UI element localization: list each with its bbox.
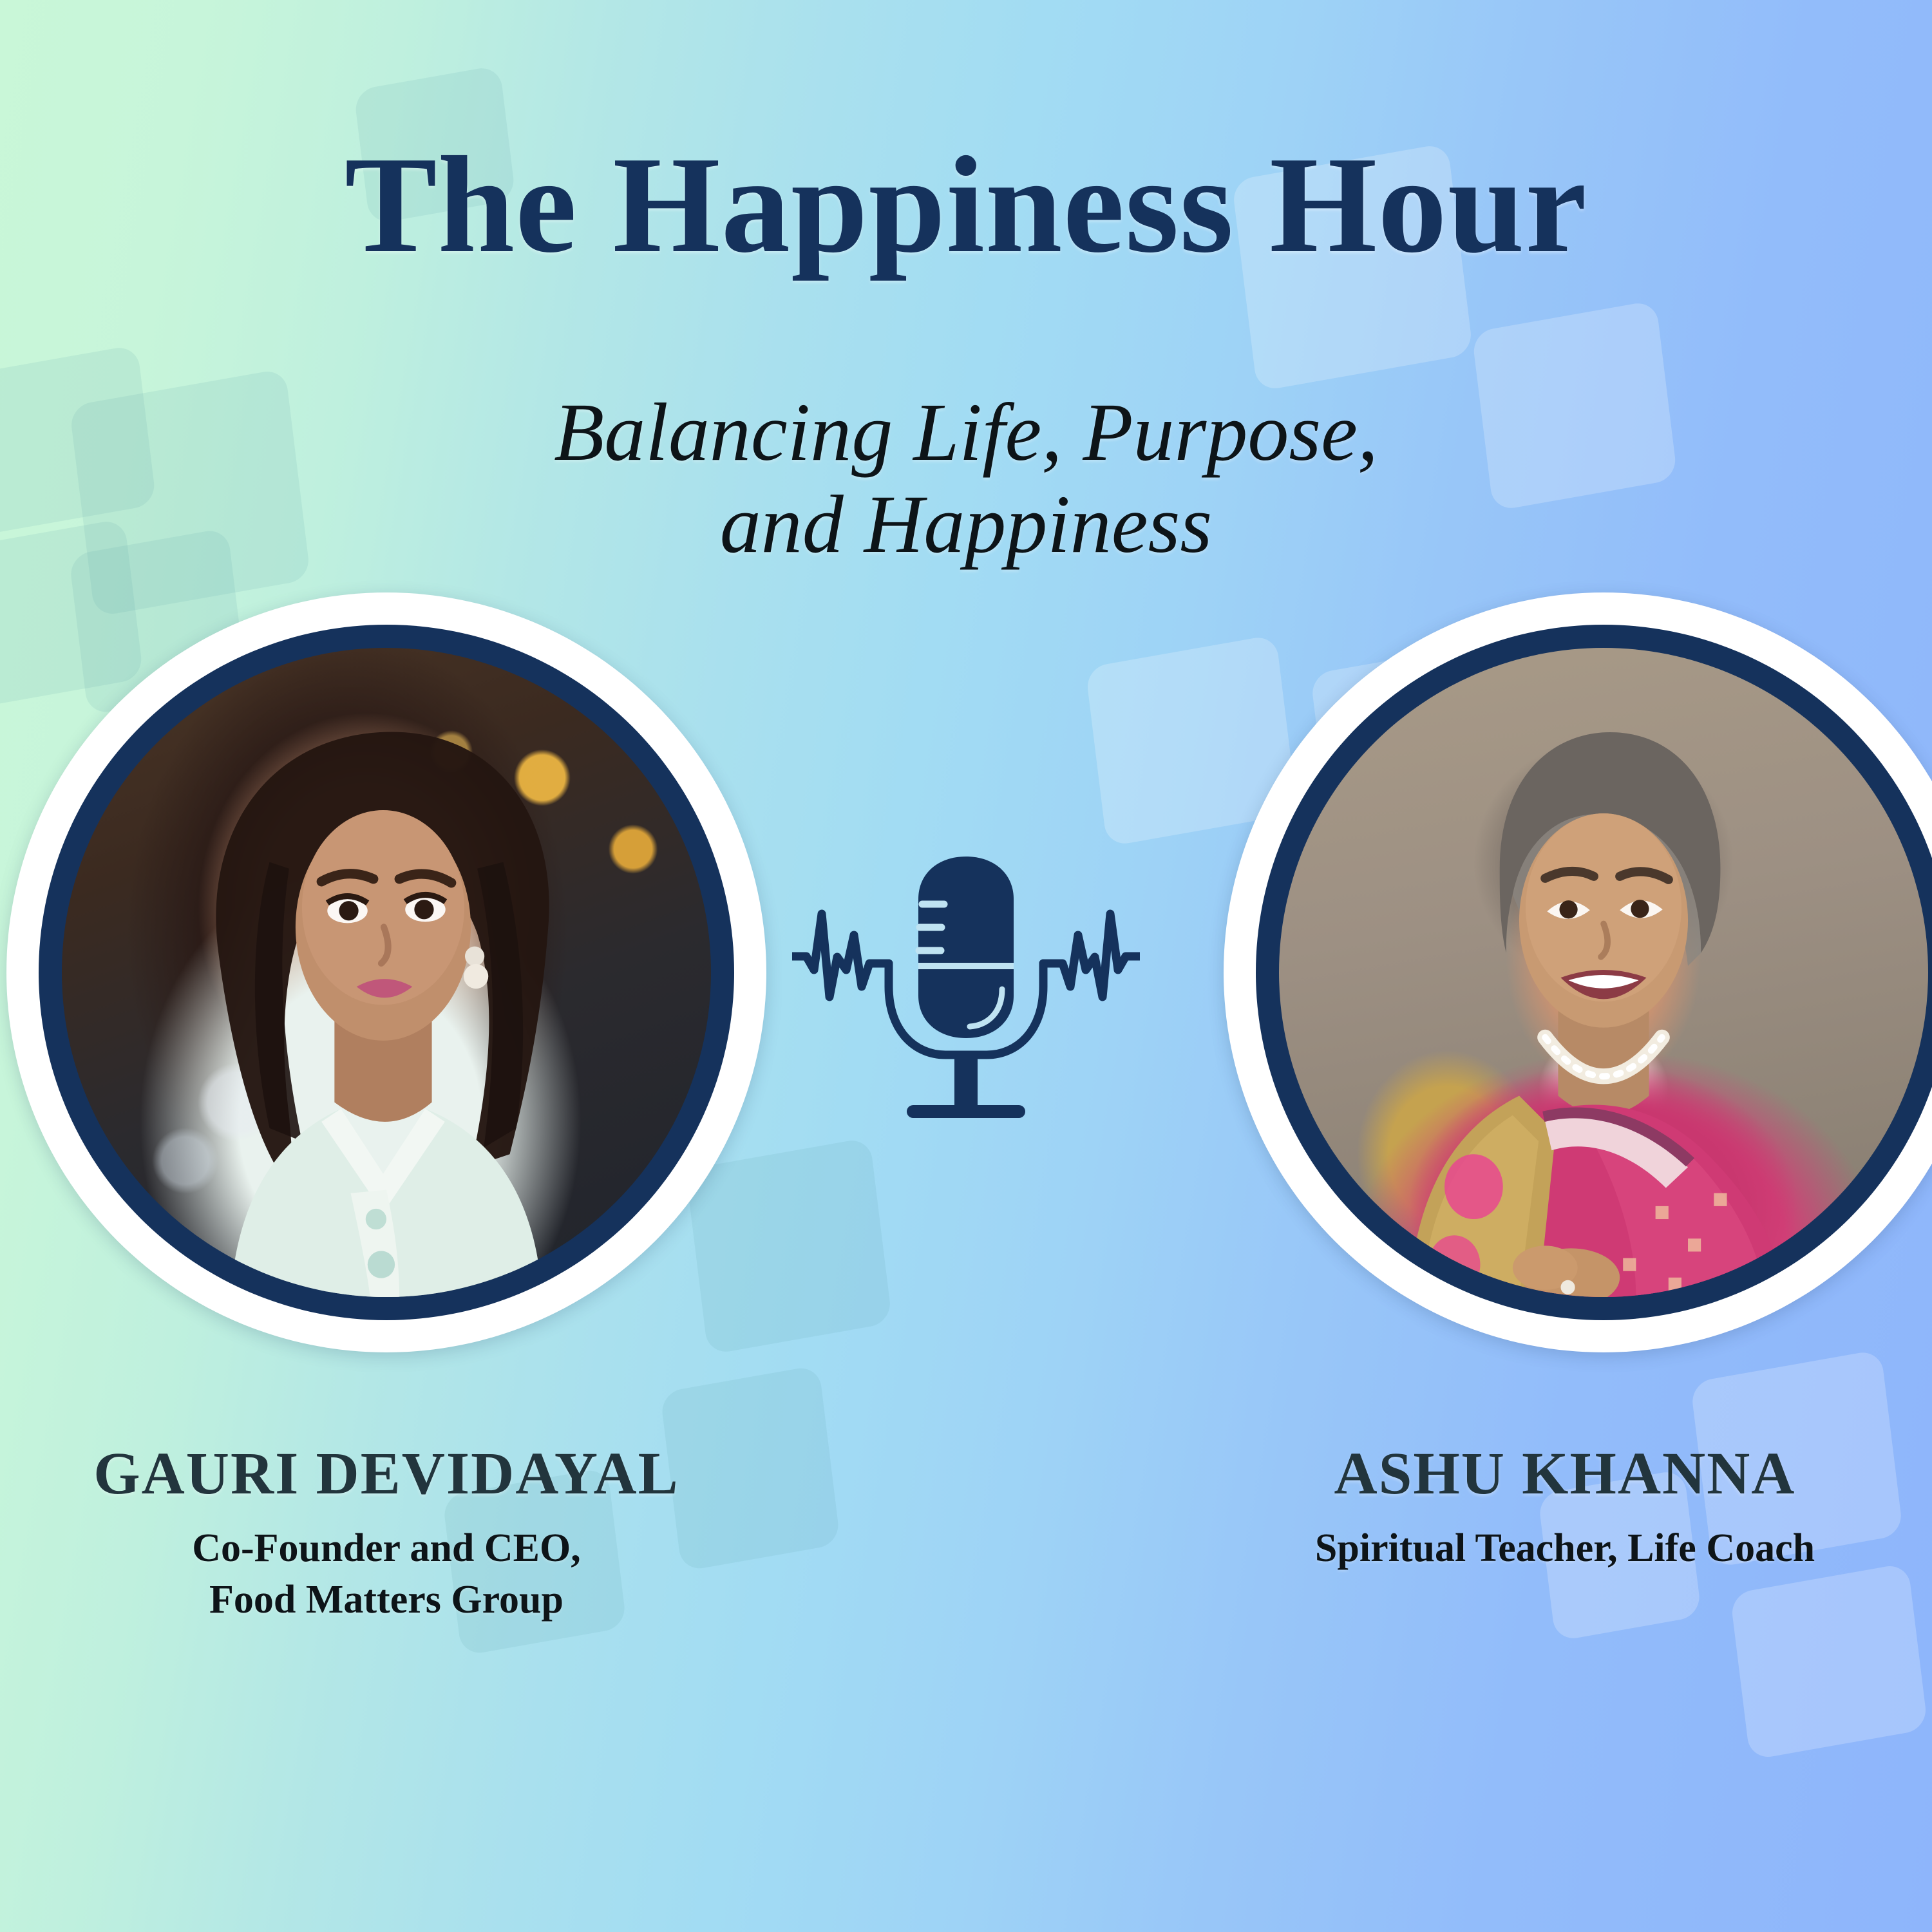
page-title: The Happiness Hour bbox=[0, 135, 1932, 274]
speaker-role: Spiritual Teacher, Life Coach bbox=[1224, 1522, 1906, 1575]
speaker-name: ASHU KHANNA bbox=[1224, 1443, 1906, 1506]
subtitle-line-2: and Happiness bbox=[0, 478, 1932, 571]
background-shape bbox=[1730, 1563, 1928, 1761]
avatar-gauri-devidayal bbox=[6, 592, 766, 1352]
page-subtitle: Balancing Life, Purpose, and Happiness bbox=[0, 386, 1932, 571]
portrait-photo-gauri bbox=[62, 648, 711, 1297]
speaker-role-line-2: Food Matters Group bbox=[26, 1574, 747, 1626]
avatar-ashu-khanna bbox=[1224, 592, 1932, 1352]
speaker-caption-right: ASHU KHANNA Spiritual Teacher, Life Coac… bbox=[1224, 1443, 1906, 1574]
speaker-role-line-1: Spiritual Teacher, Life Coach bbox=[1315, 1526, 1815, 1570]
speaker-role: Co-Founder and CEO, Food Matters Group bbox=[26, 1522, 747, 1626]
podcast-episode-poster: The Happiness Hour Balancing Life, Purpo… bbox=[0, 0, 1932, 1932]
microphone-waveform-icon bbox=[792, 837, 1140, 1133]
subtitle-line-1: Balancing Life, Purpose, bbox=[554, 386, 1378, 478]
speaker-caption-left: GAURI DEVIDAYAL Co-Founder and CEO, Food… bbox=[26, 1443, 747, 1626]
speaker-name: GAURI DEVIDAYAL bbox=[26, 1443, 747, 1506]
portrait-photo-ashu bbox=[1279, 648, 1928, 1297]
speaker-role-line-1: Co-Founder and CEO, bbox=[192, 1526, 580, 1570]
